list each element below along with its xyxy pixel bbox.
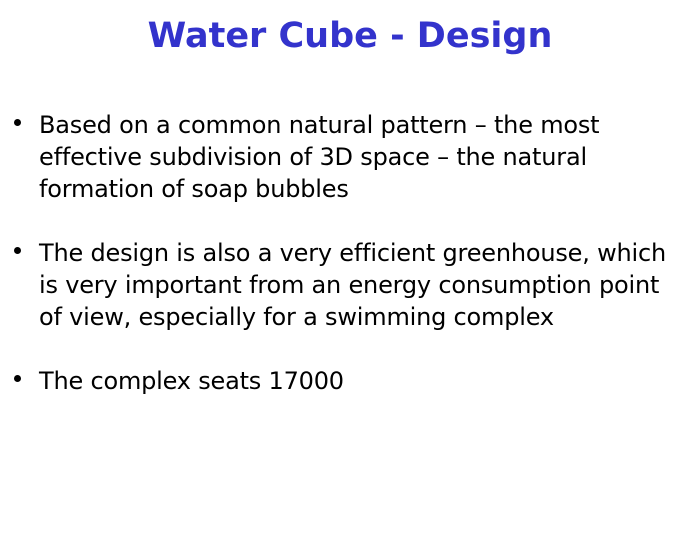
bullet-dot-icon xyxy=(14,375,21,382)
page-title: Water Cube - Design xyxy=(0,18,700,55)
list-item: The complex seats 17000 xyxy=(0,365,700,397)
bullet-list: Based on a common natural pattern – the … xyxy=(0,109,700,397)
list-item-text: The complex seats 17000 xyxy=(39,365,700,397)
list-item: The design is also a very efficient gree… xyxy=(0,237,700,333)
bullet-dot-icon xyxy=(14,247,21,254)
slide-canvas: Water Cube - Design Based on a common na… xyxy=(0,0,700,538)
list-item: Based on a common natural pattern – the … xyxy=(0,109,700,205)
bullet-dot-icon xyxy=(14,119,21,126)
list-item-text: Based on a common natural pattern – the … xyxy=(39,109,700,205)
list-item-text: The design is also a very efficient gree… xyxy=(39,237,700,333)
